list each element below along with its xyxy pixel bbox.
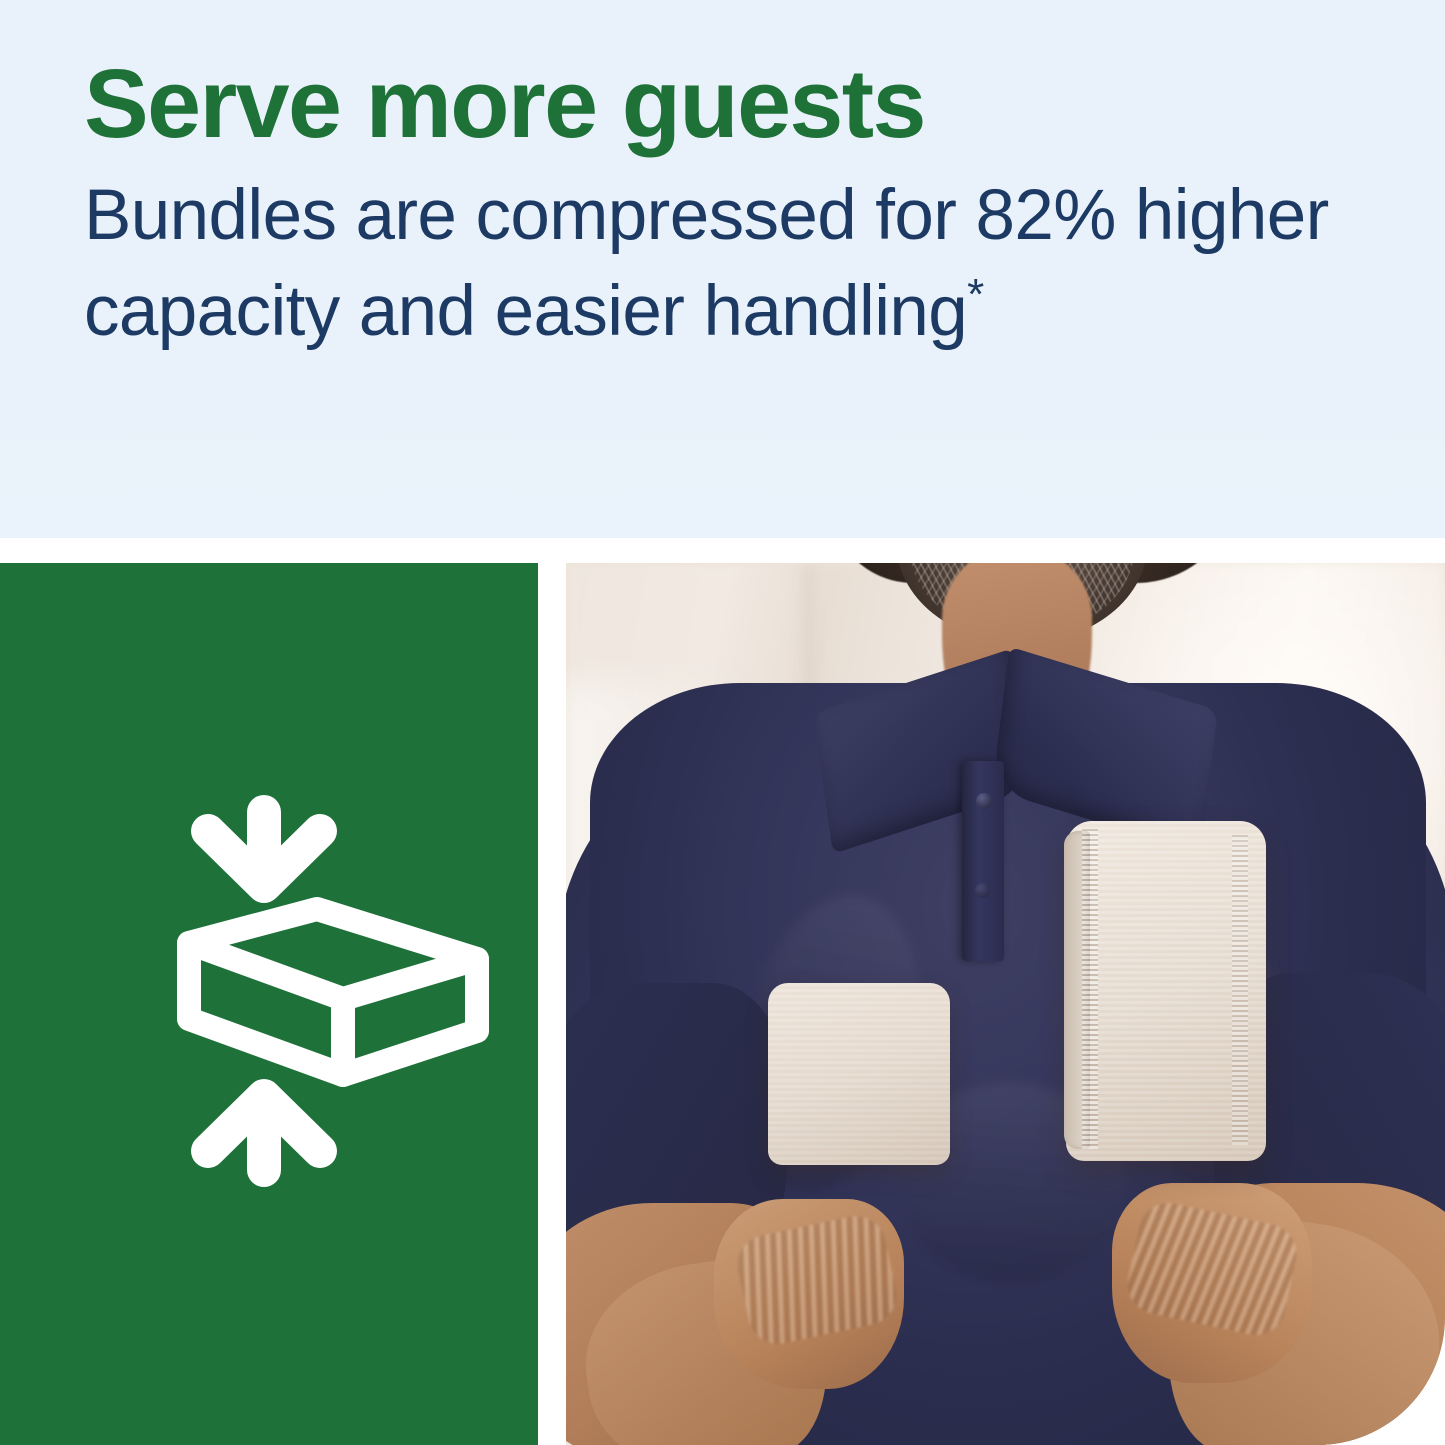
photo-subject [566,563,1445,1445]
small-paper-stack [768,983,950,1165]
polo-button-top [976,793,992,809]
feature-icon-panel: *When used with mini dispensers 552120, … [0,563,538,1445]
page-subtitle: Bundles are compressed for 82% higher ca… [84,168,1374,360]
polo-placket [962,761,1004,961]
page-subtitle-text: Bundles are compressed for 82% higher ca… [84,176,1329,351]
large-paper-stack-ruffle-left [1082,829,1098,1149]
product-photo [566,563,1445,1445]
box-outline-icon [189,909,477,1075]
arrow-up-icon [208,1096,320,1187]
footnote-marker: * [967,270,984,319]
arrow-down-icon [208,795,320,886]
polo-button-bottom [975,883,990,898]
large-paper-stack-ruffle-right [1232,835,1248,1145]
header-text-block: Serve more guests Bundles are compressed… [84,52,1374,360]
promo-poster: Serve more guests Bundles are compressed… [0,0,1445,1445]
header-band: Serve more guests Bundles are compressed… [0,0,1445,538]
compressed-bundle-icon [0,791,538,1191]
page-title: Serve more guests [84,52,1374,156]
